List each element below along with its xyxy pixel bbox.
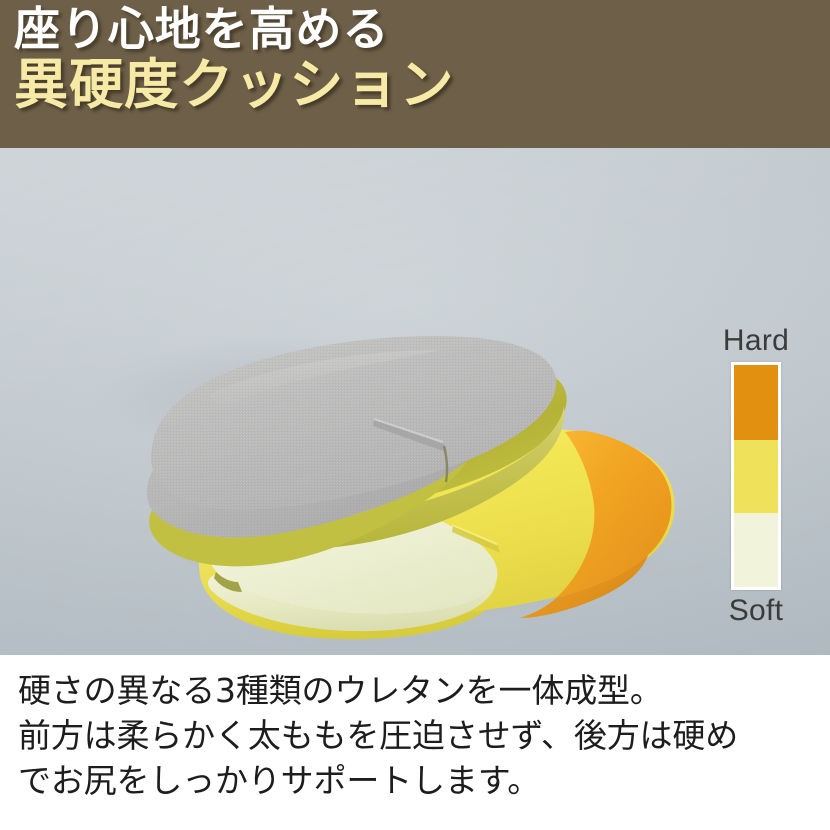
legend-segment-medium [734,440,778,514]
hardness-legend: Hard Soft [700,326,812,626]
product-feature-panel: 座り心地を高める 異硬度クッション [0,0,830,830]
legend-label-hard: Hard [723,326,789,356]
description-line-1: 硬さの異なる3種類のウレタンを一体成型。 [18,669,812,714]
product-image-stage: Hard Soft [0,148,830,655]
description-footer: 硬さの異なる3種類のウレタンを一体成型。 前方は柔らかく太ももを圧迫させず、後方… [0,655,830,830]
legend-segment-soft [734,513,778,587]
description-line-2: 前方は柔らかく太ももを圧迫させず、後方は硬め [18,714,812,759]
description-line-3: でお尻をしっかりサポートします。 [18,759,812,804]
legend-color-bar [731,362,781,590]
header-text-block: 座り心地を高める 異硬度クッション [14,6,814,112]
legend-label-soft: Soft [729,596,784,626]
legend-segment-hard [734,365,778,440]
header-banner: 座り心地を高める 異硬度クッション [0,0,830,148]
header-title-line-2: 異硬度クッション [14,58,814,112]
header-title-line-1: 座り心地を高める [14,6,814,52]
